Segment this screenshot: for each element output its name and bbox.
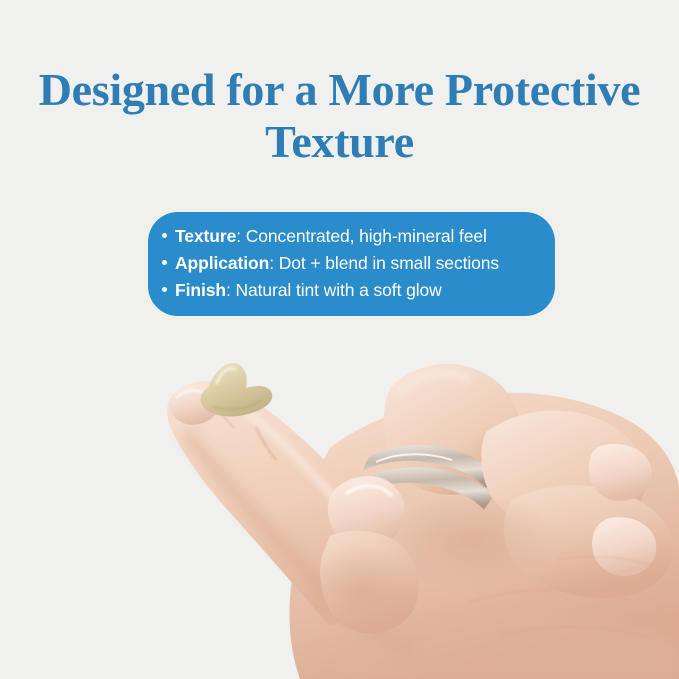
bullet-text: Finish: Natural tint with a soft glow bbox=[175, 277, 442, 304]
bullet-text: Application: Dot + blend in small sectio… bbox=[175, 250, 499, 277]
page-title: Designed for a More Protective Texture bbox=[0, 64, 679, 168]
bullet-label: Application bbox=[175, 253, 269, 273]
bullet-dot-icon bbox=[162, 233, 167, 238]
thumb-soft-shade bbox=[300, 546, 420, 634]
bullet-text: Texture: Concentrated, high-mineral feel bbox=[175, 223, 487, 250]
bullet-label: Texture bbox=[175, 226, 236, 246]
list-item: Finish: Natural tint with a soft glow bbox=[162, 277, 535, 304]
hand-illustration bbox=[0, 340, 679, 679]
feature-callout-box: Texture: Concentrated, high-mineral feel… bbox=[148, 212, 555, 316]
page-title-line-1: Designed for a More Protective bbox=[28, 64, 651, 116]
bullet-dot-icon bbox=[162, 287, 167, 292]
list-item: Application: Dot + blend in small sectio… bbox=[162, 250, 535, 277]
bullet-separator: : bbox=[269, 253, 279, 273]
bullet-value: Natural tint with a soft glow bbox=[235, 280, 441, 300]
bullet-dot-icon bbox=[162, 260, 167, 265]
bullet-value: Concentrated, high-mineral feel bbox=[246, 226, 487, 246]
page-title-line-2: Texture bbox=[28, 116, 651, 168]
bullet-value: Dot + blend in small sections bbox=[279, 253, 499, 273]
poster-canvas: Designed for a More Protective Texture T… bbox=[0, 0, 679, 679]
bullet-label: Finish bbox=[175, 280, 226, 300]
list-item: Texture: Concentrated, high-mineral feel bbox=[162, 223, 535, 250]
bullet-separator: : bbox=[236, 226, 246, 246]
hand-with-cream-photo bbox=[0, 340, 679, 679]
